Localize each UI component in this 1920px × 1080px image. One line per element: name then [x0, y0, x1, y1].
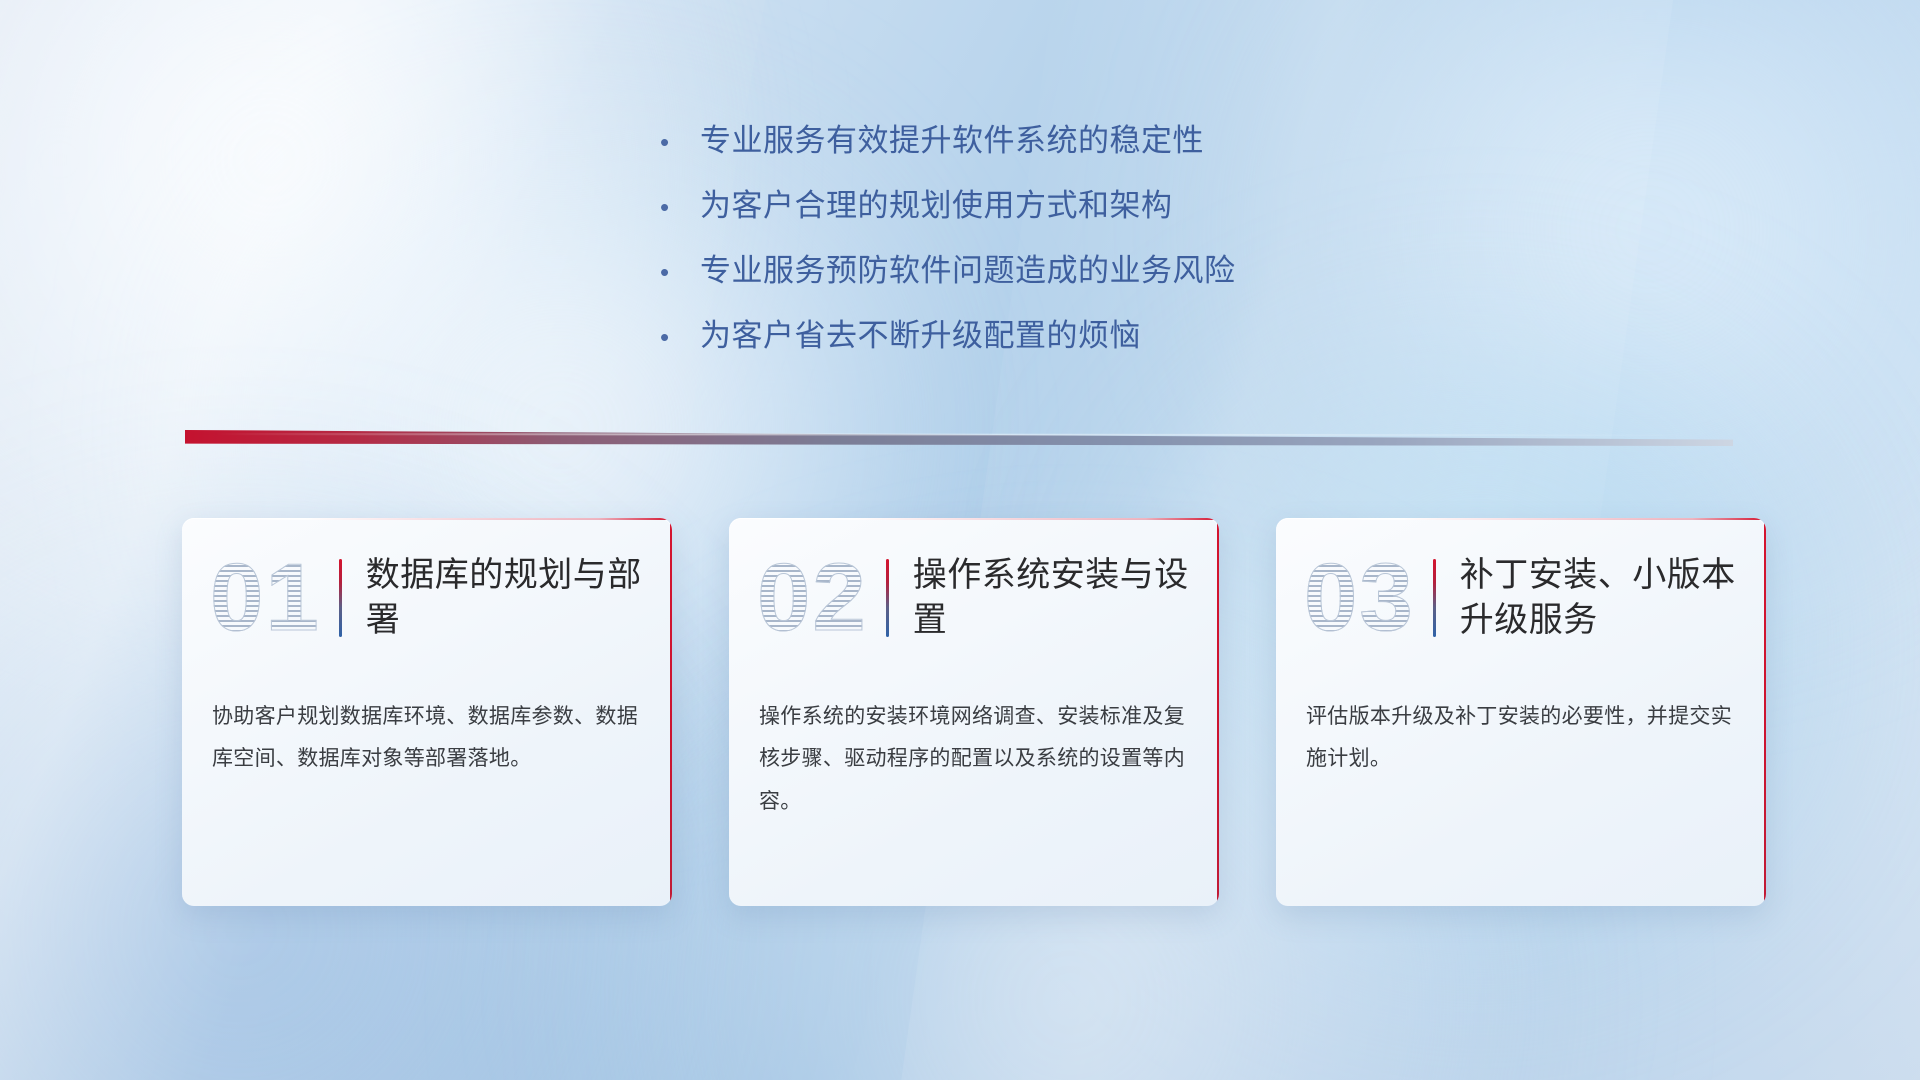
- card-title: 补丁安装、小版本升级服务: [1460, 553, 1736, 643]
- list-item: • 专业服务预防软件问题造成的业务风险: [660, 245, 1460, 310]
- list-item: • 为客户合理的规划使用方式和架构: [660, 180, 1460, 245]
- card-accent-bar-icon: [1433, 559, 1436, 637]
- card-header: 03 补丁安装、小版本升级服务: [1276, 518, 1766, 678]
- divider-blade: [185, 430, 1733, 446]
- bullet-text: 为客户省去不断升级配置的烦恼: [700, 310, 1141, 355]
- bullet-marker-icon: •: [660, 194, 700, 220]
- bullet-text: 专业服务有效提升软件系统的稳定性: [700, 115, 1204, 160]
- card-accent-bar-icon: [339, 559, 342, 637]
- list-item: • 专业服务有效提升软件系统的稳定性: [660, 115, 1460, 180]
- card-body-text: 评估版本升级及补丁安装的必要性，并提交实施计划。: [1276, 678, 1766, 781]
- bullet-marker-icon: •: [660, 324, 700, 350]
- section-divider: [185, 430, 1733, 446]
- card-header: 01 数据库的规划与部署: [182, 518, 672, 678]
- card-accent-bar-icon: [886, 559, 889, 637]
- card-title: 数据库的规划与部署: [366, 553, 642, 643]
- service-card-01[interactable]: 01 数据库的规划与部署 协助客户规划数据库环境、数据库参数、数据库空间、数据库…: [182, 518, 672, 906]
- card-number: 02: [757, 550, 868, 646]
- service-card-02[interactable]: 02 操作系统安装与设置 操作系统的安装环境网络调查、安装标准及复核步骤、驱动程…: [729, 518, 1219, 906]
- service-cards: 01 数据库的规划与部署 协助客户规划数据库环境、数据库参数、数据库空间、数据库…: [182, 518, 1766, 906]
- card-number: 01: [210, 550, 321, 646]
- bullet-text: 为客户合理的规划使用方式和架构: [700, 180, 1173, 225]
- card-header: 02 操作系统安装与设置: [729, 518, 1219, 678]
- bullet-marker-icon: •: [660, 259, 700, 285]
- service-card-03[interactable]: 03 补丁安装、小版本升级服务 评估版本升级及补丁安装的必要性，并提交实施计划。: [1276, 518, 1766, 906]
- card-title: 操作系统安装与设置: [913, 553, 1189, 643]
- bullet-marker-icon: •: [660, 129, 700, 155]
- bullet-text: 专业服务预防软件问题造成的业务风险: [700, 245, 1236, 290]
- benefits-bullet-list: • 专业服务有效提升软件系统的稳定性 • 为客户合理的规划使用方式和架构 • 专…: [660, 115, 1460, 375]
- list-item: • 为客户省去不断升级配置的烦恼: [660, 310, 1460, 375]
- card-number: 03: [1304, 550, 1415, 646]
- card-body-text: 协助客户规划数据库环境、数据库参数、数据库空间、数据库对象等部署落地。: [182, 678, 672, 781]
- card-body-text: 操作系统的安装环境网络调查、安装标准及复核步骤、驱动程序的配置以及系统的设置等内…: [729, 678, 1219, 823]
